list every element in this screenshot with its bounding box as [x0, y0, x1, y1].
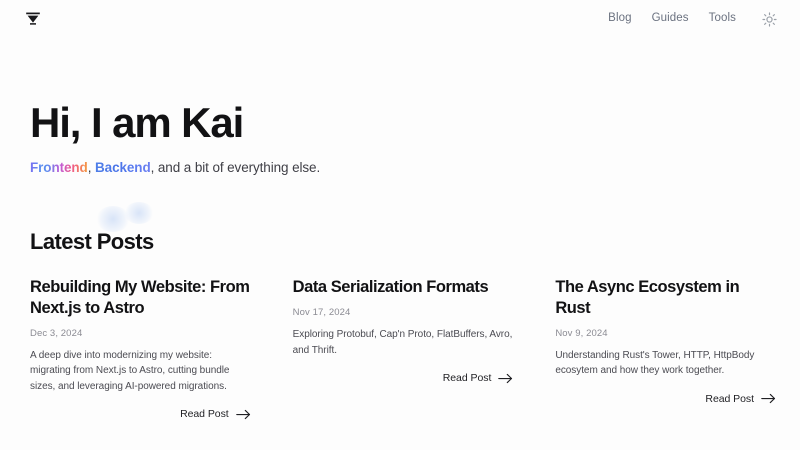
posts-grid: Rebuilding My Website: From Next.js to A…: [30, 277, 776, 420]
hero-subtitle-rest: , and a bit of everything else.: [151, 160, 321, 175]
theme-toggle-button[interactable]: [760, 10, 778, 28]
hero-highlight-backend: Backend: [95, 160, 151, 175]
post-card[interactable]: Data Serialization Formats Nov 17, 2024 …: [293, 277, 514, 420]
hero-subtitle: Frontend, Backend, and a bit of everythi…: [30, 160, 320, 175]
sun-icon: [762, 12, 777, 27]
post-excerpt: A deep dive into modernizing my website:…: [30, 348, 251, 395]
nav-link-blog[interactable]: Blog: [608, 13, 631, 25]
read-post-link[interactable]: Read Post: [443, 372, 514, 384]
latest-posts-section: Latest Posts Rebuilding My Website: From…: [0, 177, 800, 420]
post-date: Nov 9, 2024: [555, 328, 776, 339]
post-card[interactable]: Rebuilding My Website: From Next.js to A…: [30, 277, 251, 420]
section-title-latest-posts: Latest Posts: [30, 229, 776, 255]
post-excerpt: Understanding Rust's Tower, HTTP, HttpBo…: [555, 348, 776, 379]
kai-monogram-logo-svg: [24, 10, 42, 28]
post-date: Dec 3, 2024: [30, 328, 251, 339]
arrow-right-icon: [498, 373, 513, 384]
hero-subtitle-separator: ,: [88, 160, 95, 175]
primary-nav: Blog Guides Tools: [608, 10, 778, 28]
read-post-label: Read Post: [443, 372, 492, 384]
page-title: Hi, I am Kai: [30, 100, 776, 145]
arrow-right-icon: [761, 393, 776, 404]
nav-link-guides[interactable]: Guides: [652, 13, 689, 25]
site-header: Blog Guides Tools: [0, 0, 800, 38]
post-date: Nov 17, 2024: [293, 307, 514, 318]
read-post-label: Read Post: [180, 408, 229, 420]
post-title: Rebuilding My Website: From Next.js to A…: [30, 277, 251, 319]
post-title: The Async Ecosystem in Rust: [555, 277, 776, 319]
post-excerpt: Exploring Protobuf, Cap'n Proto, FlatBuf…: [293, 327, 514, 358]
read-post-link[interactable]: Read Post: [705, 393, 776, 405]
nav-link-tools[interactable]: Tools: [709, 13, 736, 25]
post-title: Data Serialization Formats: [293, 277, 514, 298]
hero-highlight-frontend: Frontend: [30, 160, 88, 175]
hero-section: Hi, I am Kai Frontend, Backend, and a bi…: [0, 38, 800, 177]
read-post-link[interactable]: Read Post: [180, 408, 251, 420]
post-card[interactable]: The Async Ecosystem in Rust Nov 9, 2024 …: [555, 277, 776, 420]
arrow-right-icon: [236, 409, 251, 420]
kai-monogram-logo-icon[interactable]: [24, 10, 42, 28]
read-post-label: Read Post: [705, 393, 754, 405]
